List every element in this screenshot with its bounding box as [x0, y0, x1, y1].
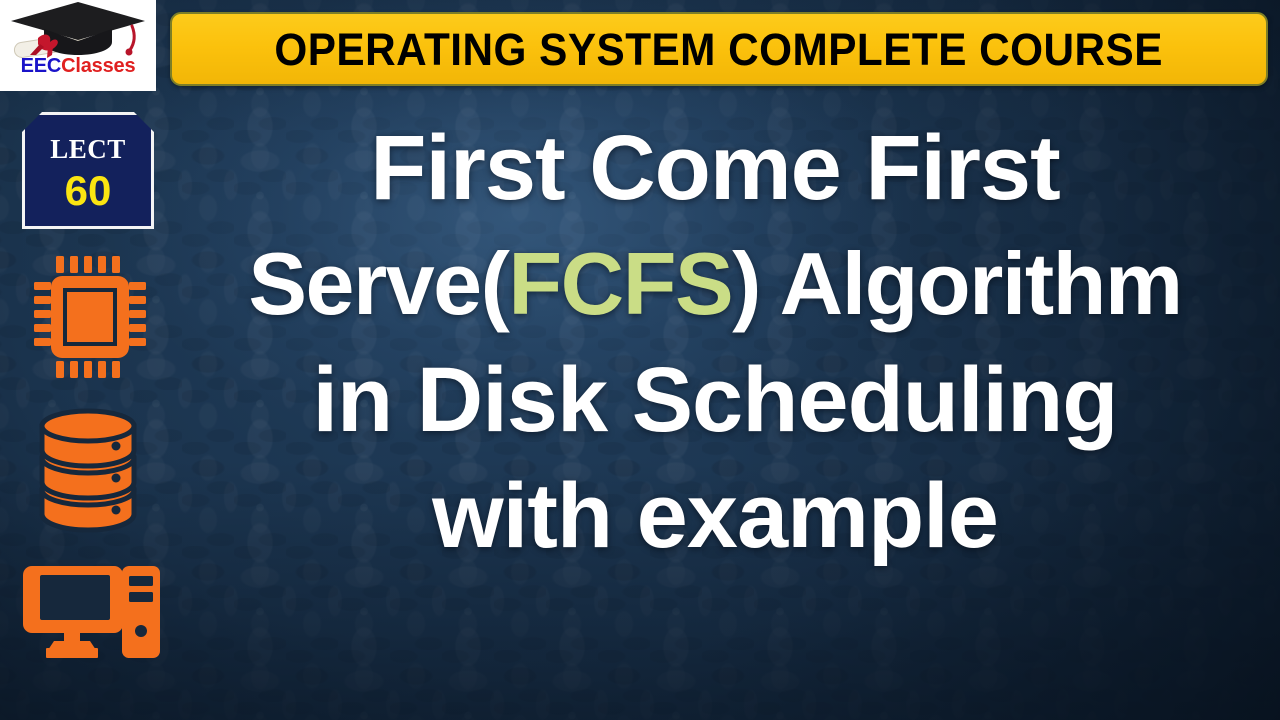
course-banner-label: OPERATING SYSTEM COMPLETE COURSE — [275, 27, 1164, 72]
brand-logo-text: EECClasses — [0, 56, 156, 76]
cpu-chip-icon — [34, 256, 146, 378]
title-line-3: in Disk Scheduling — [312, 342, 1117, 458]
database-stack-icon — [32, 406, 144, 534]
title-acronym-fcfs: FCFS — [508, 234, 732, 333]
slide-title: First Come First Serve(FCFS) Algorithm i… — [160, 96, 1270, 720]
title-line-1: First Come First — [370, 110, 1059, 226]
desktop-computer-icon — [22, 562, 162, 660]
brand-name-classes: Classes — [61, 55, 135, 77]
course-banner: OPERATING SYSTEM COMPLETE COURSE — [170, 12, 1268, 86]
title-line-2: Serve(FCFS) Algorithm — [248, 226, 1181, 342]
title-line-2-prefix: Serve( — [248, 234, 508, 333]
lecture-badge-number: 60 — [65, 170, 112, 212]
brand-name-eec: EEC — [21, 55, 62, 77]
brand-logo: EECClasses — [0, 0, 156, 91]
title-line-4: with example — [432, 458, 998, 574]
lecture-badge-label: LECT — [50, 136, 126, 163]
lecture-number-badge: LECT 60 — [22, 112, 154, 229]
video-thumbnail-slide: EECClasses OPERATING SYSTEM COMPLETE COU… — [0, 0, 1280, 720]
title-line-2-suffix: ) Algorithm — [732, 234, 1182, 333]
